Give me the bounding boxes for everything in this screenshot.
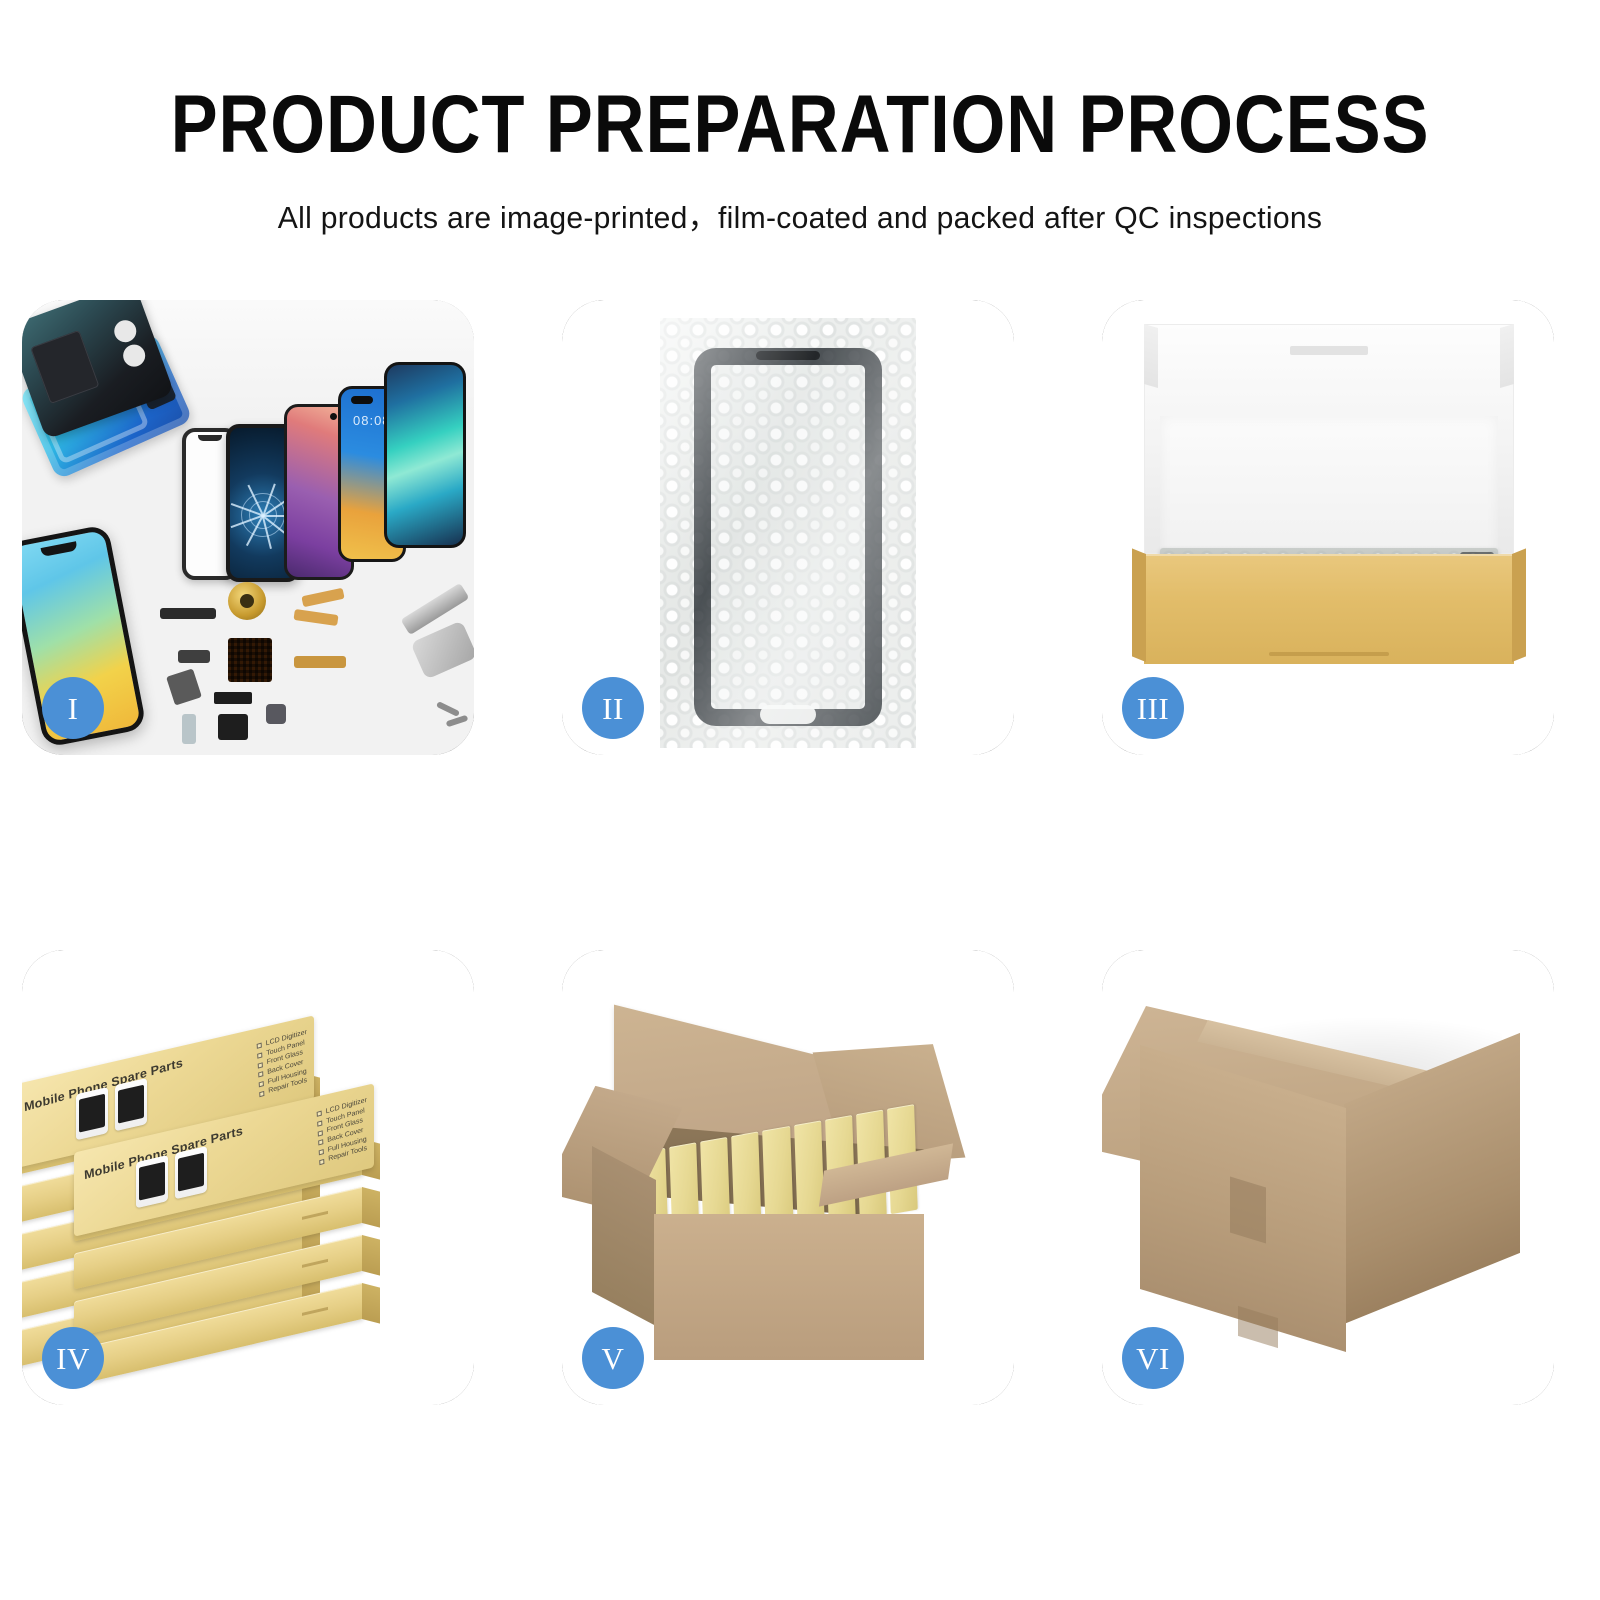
taptic-engine-part: [218, 714, 248, 740]
checkbox-icon: [259, 1091, 264, 1097]
step-badge-3: III: [1122, 677, 1184, 739]
plastic-sheen-overlay: [660, 318, 916, 748]
step-panel-6: VI: [1102, 950, 1554, 1405]
page-subtitle: All products are image-printed，film-coat…: [24, 192, 1576, 237]
box-seam: [1269, 652, 1389, 656]
checkbox-icon: [317, 1130, 322, 1136]
box-side: [362, 1283, 380, 1324]
box-photo-thumb: [115, 1078, 147, 1131]
step-panel-5: V: [562, 950, 1014, 1405]
box-seam: [302, 1211, 328, 1220]
carton-flap-edge: [1230, 1176, 1266, 1243]
process-steps-grid: 08:08: [22, 300, 1578, 1460]
step-panel-4: Mobile Phone Spare Parts LCD Digitizer T…: [22, 950, 474, 1405]
flex-cable-part: [294, 656, 346, 668]
step-panel-1: 08:08: [22, 300, 474, 755]
page-title: PRODUCT PREPARATION PROCESS: [112, 84, 1488, 166]
step-panel-2: II: [562, 300, 1014, 755]
step-badge-1: I: [42, 677, 104, 739]
step-badge-4: IV: [42, 1327, 104, 1389]
carton-front-face: [654, 1214, 924, 1360]
box-inner-wall: [1160, 416, 1498, 568]
step-badge-2: II: [582, 677, 644, 739]
box-side: [362, 1187, 380, 1228]
button-bracket-part: [178, 650, 210, 663]
wireless-charging-coil-part: [228, 582, 266, 620]
checkbox-icon: [258, 1081, 263, 1087]
kraft-box-body: [1144, 554, 1514, 664]
step-panel-3: III: [1102, 300, 1554, 755]
camera-module-part: [266, 704, 286, 724]
box-seam: [302, 1307, 328, 1316]
sealed-shipping-carton: [1112, 996, 1542, 1372]
logic-board-chip-part: [228, 638, 272, 682]
product-preparation-infographic: PRODUCT PREPARATION PROCESS All products…: [0, 0, 1600, 1600]
checkbox-icon: [258, 1072, 263, 1078]
box-photo-thumb: [175, 1146, 207, 1199]
box-seam: [302, 1259, 328, 1268]
checkbox-icon: [318, 1140, 323, 1146]
box-checklist: LCD Digitizer Touch Panel Front Glass Ba…: [256, 1028, 309, 1099]
header: PRODUCT PREPARATION PROCESS All products…: [0, 0, 1600, 237]
step-badge-6: VI: [1122, 1327, 1184, 1389]
bubble-wrap-sheet: [660, 318, 916, 748]
checkbox-icon: [256, 1043, 261, 1049]
checkbox-icon: [318, 1149, 323, 1155]
checkbox-icon: [257, 1062, 262, 1068]
checkbox-icon: [257, 1052, 262, 1058]
checkbox-icon: [317, 1120, 322, 1126]
box-side: [362, 1235, 380, 1276]
lid-tab: [1290, 346, 1368, 355]
box-photo-thumb: [136, 1155, 168, 1208]
crack-pattern: [263, 515, 264, 516]
checkbox-icon: [316, 1111, 321, 1117]
teal-display-phone: [384, 362, 466, 548]
checkbox-icon: [319, 1159, 324, 1165]
box-photo-thumb: [76, 1087, 108, 1140]
step-badge-5: V: [582, 1327, 644, 1389]
sim-tray-part: [182, 714, 196, 744]
earpiece-speaker-part: [160, 608, 216, 619]
box-checklist: LCD Digitizer Touch Panel Front Glass Ba…: [316, 1096, 369, 1167]
connector-part: [214, 692, 252, 704]
